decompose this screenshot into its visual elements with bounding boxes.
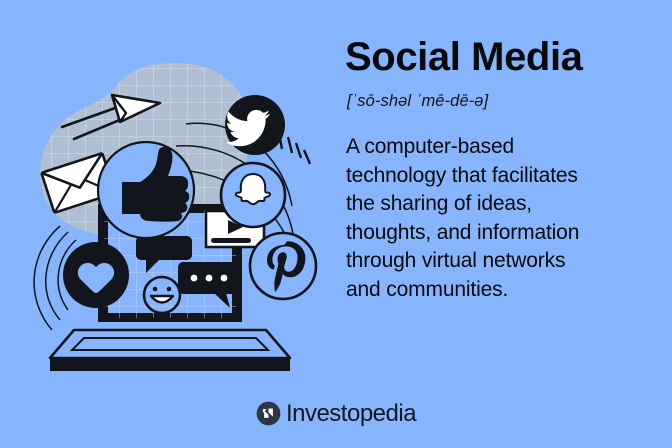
definition-text: A computer-based technology that facilit… bbox=[346, 133, 657, 304]
definition-line: thoughts, and information bbox=[346, 219, 657, 248]
twitter-bird-icon bbox=[225, 95, 285, 155]
snapchat-ghost-icon bbox=[221, 163, 285, 227]
definition-line: through virtual networks bbox=[346, 247, 657, 276]
investopedia-logo: Investopedia bbox=[0, 401, 672, 426]
heart-icon bbox=[63, 242, 129, 308]
pronunciation: [ˈsō-shəl ˈmē-dē-ə] bbox=[347, 92, 657, 111]
thumbs-up-icon bbox=[98, 142, 194, 238]
pinterest-icon bbox=[250, 233, 316, 299]
illustration bbox=[0, 0, 336, 400]
infographic-card: Social Media [ˈsō-shəl ˈmē-dē-ə] A compu… bbox=[0, 0, 672, 448]
definition-line: A computer-based bbox=[346, 133, 657, 162]
definition-panel: Social Media [ˈsō-shəl ˈmē-dē-ə] A compu… bbox=[345, 36, 657, 304]
investopedia-mark-icon bbox=[256, 401, 281, 426]
investopedia-wordmark: Investopedia bbox=[286, 402, 416, 426]
definition-line: and communities. bbox=[346, 276, 657, 305]
definition-line: the sharing of ideas, bbox=[346, 190, 657, 219]
term-title: Social Media bbox=[345, 36, 657, 78]
definition-line: technology that facilitates bbox=[346, 162, 657, 191]
